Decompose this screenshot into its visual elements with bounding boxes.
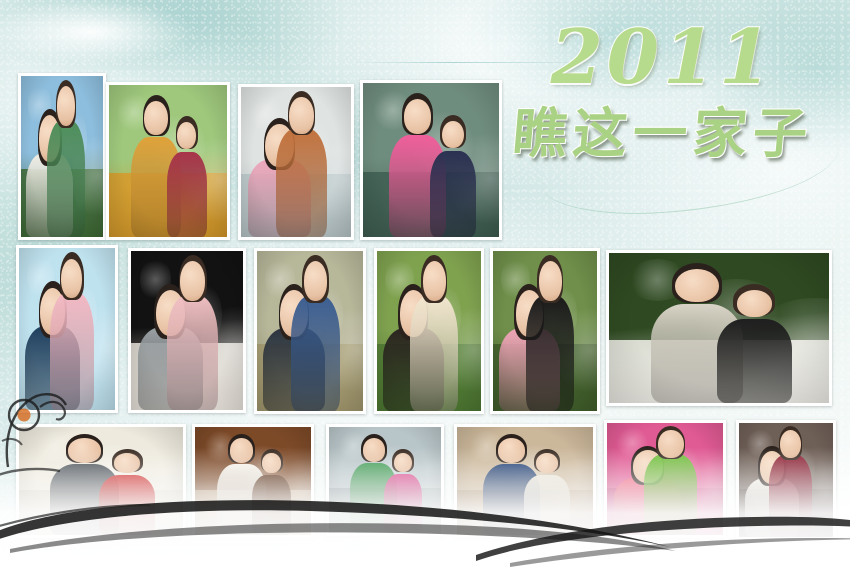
photo-vignette (363, 83, 499, 237)
photo-vignette (19, 248, 115, 410)
photo-tile[interactable] (106, 82, 230, 240)
photo-tile[interactable] (360, 80, 502, 240)
photo-scene (241, 87, 351, 237)
photo-tile[interactable] (128, 248, 246, 413)
poster-title-block: 2011 瞧这一家子 (486, 18, 840, 164)
photo-vignette (257, 251, 363, 411)
photo-scene (21, 76, 103, 237)
photo-scene (109, 85, 227, 237)
photo-tile[interactable] (374, 248, 484, 414)
photo-vignette (609, 253, 829, 403)
photo-scene (609, 253, 829, 403)
background-bottom-fade (0, 447, 850, 567)
poster-year-title: 2011 (486, 18, 840, 96)
photo-tile[interactable] (606, 250, 832, 406)
photo-vignette (241, 87, 351, 237)
photo-vignette (21, 76, 103, 237)
photo-scene (19, 248, 115, 410)
photo-scene (493, 251, 597, 411)
photo-vignette (377, 251, 481, 411)
photo-scene (363, 83, 499, 237)
poster-chinese-title: 瞧这一家子 (483, 102, 842, 164)
photo-scene (377, 251, 481, 411)
photo-collage-poster: 2011 瞧这一家子 (0, 0, 850, 567)
background-white-splash (0, 0, 300, 80)
photo-vignette (493, 251, 597, 411)
photo-tile[interactable] (238, 84, 354, 240)
photo-tile[interactable] (490, 248, 600, 414)
photo-tile[interactable] (254, 248, 366, 414)
photo-tile[interactable] (18, 73, 106, 240)
photo-vignette (131, 251, 243, 410)
photo-scene (257, 251, 363, 411)
photo-vignette (109, 85, 227, 237)
photo-scene (131, 251, 243, 410)
photo-tile[interactable] (16, 245, 118, 413)
